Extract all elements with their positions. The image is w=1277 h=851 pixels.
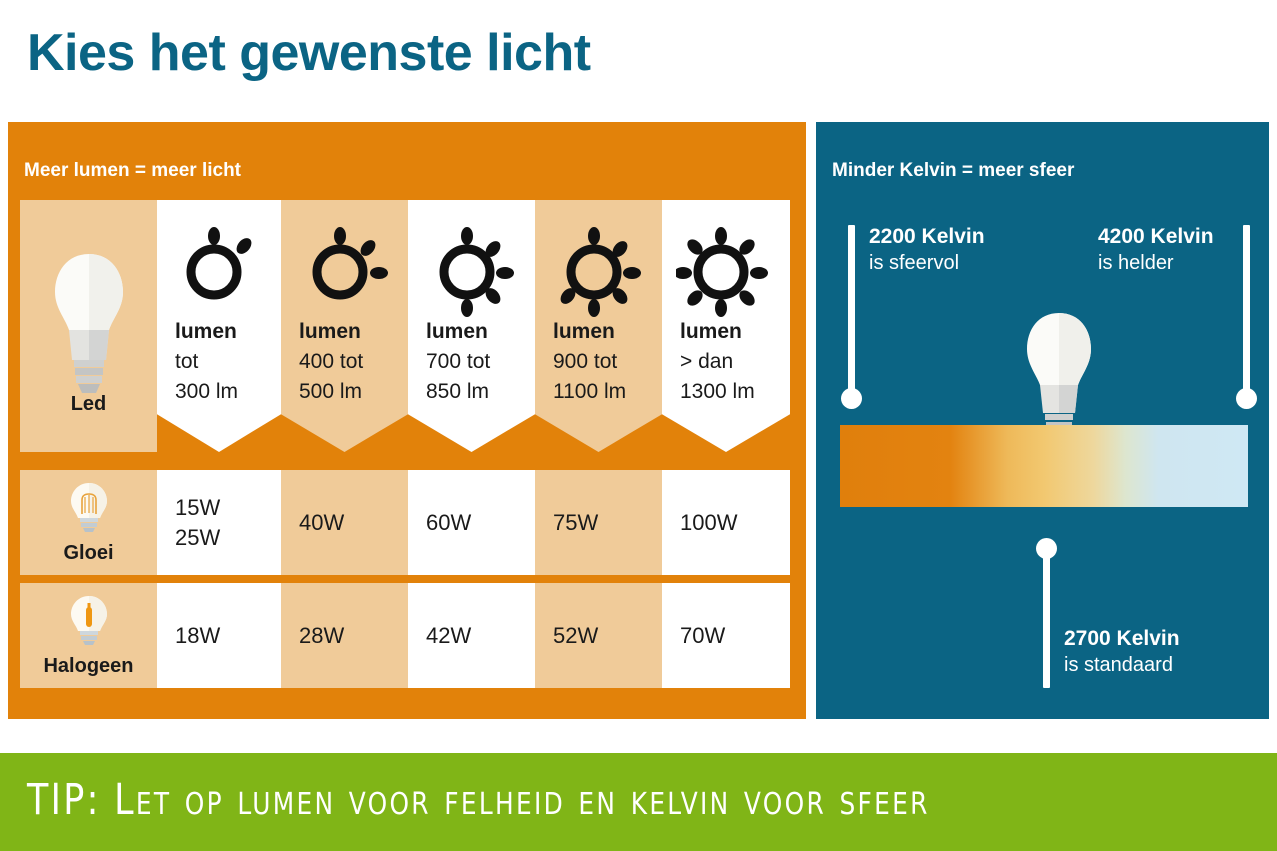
lumen-cell-5: lumen > dan 1300 lm [662, 200, 790, 452]
led-bulb-icon [49, 248, 129, 403]
cell-gloei-2: 40W [281, 470, 408, 575]
row-type-label-gloei: Gloei [63, 542, 113, 565]
lumen-cell-2: lumen 400 tot 500 lm [281, 200, 408, 452]
watt-value: 15W 25W [157, 493, 220, 553]
sun-icon-3-rays [295, 226, 395, 323]
cell-halogeen-1: 18W [157, 583, 281, 688]
incandescent-bulb-icon [68, 480, 110, 537]
kelvin-panel: Minder Kelvin = meer sfeer 2200 Kelvin i… [816, 122, 1269, 719]
lumen-cell-1: lumen tot 300 lm [157, 200, 281, 452]
lumen-cell-3: lumen 700 tot 850 lm [408, 200, 535, 452]
sun-icon-8-rays [676, 226, 776, 323]
sun-icon-2-rays [169, 226, 269, 323]
cell-halogeen-4: 52W [535, 583, 662, 688]
cell-halogeen-2: 28W [281, 583, 408, 688]
row-type-halogeen: Halogeen [20, 583, 157, 688]
table-row-halogeen: Halogeen 18W 28W 42W 52W 70W [20, 583, 790, 688]
row-type-gloei: Gloei [20, 470, 157, 575]
lumen-text-4: lumen 900 tot 1100 lm [553, 317, 626, 406]
lumen-panel-heading: Meer lumen = meer licht [24, 160, 241, 182]
sun-icon-5-rays [422, 226, 522, 323]
sun-icon-6-rays [549, 226, 649, 323]
cell-halogeen-5: 70W [662, 583, 790, 688]
marker-2700-desc: is standaard [1064, 652, 1180, 678]
marker-4200-desc: is helder [1098, 250, 1214, 276]
watt-value: 18W [157, 621, 220, 651]
marker-2700-label: 2700 Kelvin is standaard [1064, 626, 1180, 678]
watt-value: 52W [535, 621, 598, 651]
kelvin-panel-heading: Minder Kelvin = meer sfeer [832, 160, 1074, 182]
watt-value: 40W [281, 508, 344, 538]
watt-value: 75W [535, 508, 598, 538]
halogen-bulb-icon [68, 593, 110, 650]
lumen-cell-4: lumen 900 tot 1100 lm [535, 200, 662, 452]
row-type-label-halogeen: Halogeen [43, 655, 133, 678]
infographic-page: Kies het gewenste licht Meer lumen = mee… [0, 0, 1277, 851]
cell-halogeen-3: 42W [408, 583, 535, 688]
marker-4200-label: 4200 Kelvin is helder [1098, 224, 1214, 276]
tip-banner: TIP: Let op lumen voor felheid en kelvin… [0, 753, 1277, 851]
marker-2200-value: 2200 Kelvin [869, 224, 985, 250]
cell-gloei-4: 75W [535, 470, 662, 575]
watt-value: 42W [408, 621, 471, 651]
lumen-text-3: lumen 700 tot 850 lm [426, 317, 490, 406]
watt-value: 100W [662, 508, 737, 538]
led-label: Led [20, 393, 157, 416]
marker-2700-value: 2700 Kelvin [1064, 626, 1180, 652]
cell-gloei-3: 60W [408, 470, 535, 575]
lumen-row: Led [20, 200, 790, 452]
cell-gloei-5: 100W [662, 470, 790, 575]
marker-2200-label: 2200 Kelvin is sfeervol [869, 224, 985, 276]
lumen-panel: Meer lumen = meer licht [8, 122, 806, 719]
table-row-gloei: Gloei 15W 25W 40W 60W 75W 100W [20, 470, 790, 575]
marker-2200-desc: is sfeervol [869, 250, 985, 276]
marker-4200-value: 4200 Kelvin [1098, 224, 1214, 250]
page-title: Kies het gewenste licht [27, 24, 591, 84]
tip-text: TIP: Let op lumen voor felheid en kelvin… [27, 775, 930, 824]
watt-value: 70W [662, 621, 725, 651]
lumen-text-2: lumen 400 tot 500 lm [299, 317, 363, 406]
watt-value: 60W [408, 508, 471, 538]
kelvin-gradient-bar [840, 425, 1248, 507]
lumen-text-5: lumen > dan 1300 lm [680, 317, 755, 406]
lumen-text-1: lumen tot 300 lm [175, 317, 238, 406]
cell-gloei-1: 15W 25W [157, 470, 281, 575]
lumen-cell-led: Led [20, 200, 157, 452]
watt-value: 28W [281, 621, 344, 651]
